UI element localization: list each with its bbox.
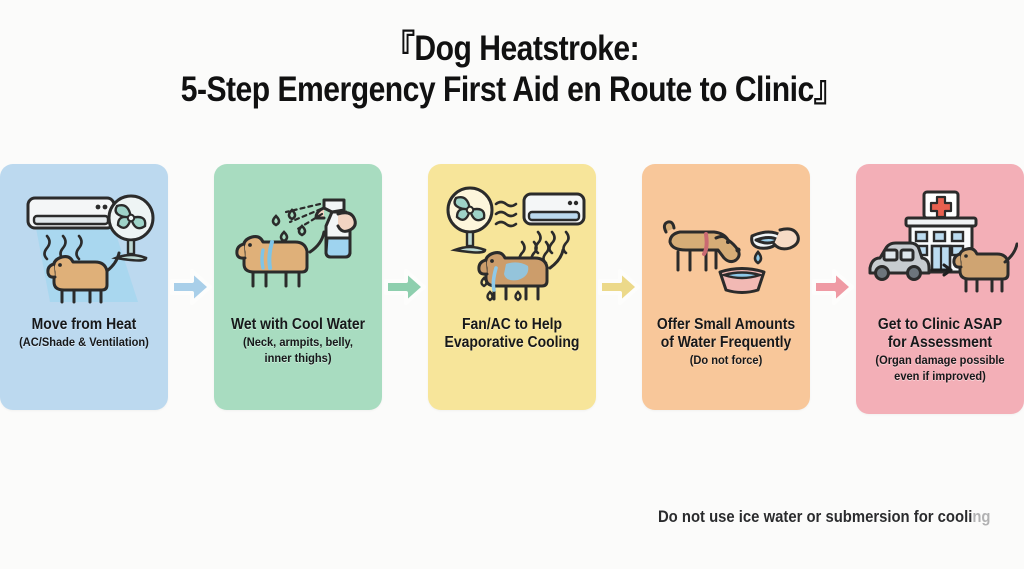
clinic-car-dog-icon [860,178,1020,316]
fan-ac-wet-dog-icon [432,178,592,316]
arrow-step-2-to-3 [382,164,428,410]
step-card-4[interactable]: Offer Small Amounts of Water Frequently … [642,164,810,410]
step-card-2-text: Wet with Cool Water (Neck, armpits, bell… [214,316,382,366]
steps-row: Move from Heat (AC/Shade & Ventilation) [0,164,1024,416]
step-2-title: Wet with Cool Water [225,316,371,334]
step-5-sub2: (Organ damage possible [867,353,1013,368]
dog-water-bowl-icon [646,178,806,316]
arrow-step-4-to-5 [810,164,856,410]
step-3-title: Fan/AC to Help [439,316,585,334]
step-5-sub3: even if improved) [867,369,1013,384]
arrow-step-3-to-4 [596,164,642,410]
step-card-5-text: Get to Clinic ASAP for Assessment (Organ… [856,316,1024,384]
arrow-step-1-to-2 [168,164,214,410]
step-4-sub1: of Water Frequently [653,334,799,352]
step-card-5[interactable]: Get to Clinic ASAP for Assessment (Organ… [856,164,1024,414]
step-2-sub1: (Neck, armpits, belly, [225,335,371,350]
step-card-3[interactable]: Fan/AC to Help Evaporative Cooling [428,164,596,410]
step-card-3-text: Fan/AC to Help Evaporative Cooling [428,316,596,352]
step-1-title: Move from Heat [11,316,157,334]
step-4-title: Offer Small Amounts [653,316,799,334]
page-title: 『Dog Heatstroke: 5-Step Emergency First … [0,28,1024,110]
step-card-4-text: Offer Small Amounts of Water Frequently … [642,316,810,368]
spray-bottle-dog-icon [218,178,378,316]
step-1-sub1: (AC/Shade & Ventilation) [11,335,157,350]
footer-note: Do not use ice water or submersion for c… [657,508,990,527]
step-card-1-text: Move from Heat (AC/Shade & Ventilation) [0,316,168,350]
step-4-sub2: (Do not force) [653,353,799,368]
step-5-sub1: for Assessment [867,334,1013,352]
step-2-sub2: inner thighs) [225,351,371,366]
step-card-2[interactable]: Wet with Cool Water (Neck, armpits, bell… [214,164,382,410]
title-line-2: 5-Step Emergency First Aid en Route to C… [72,69,953,110]
footer-note-tail: ng [972,508,990,526]
title-line-1: 『Dog Heatstroke: [72,28,953,69]
step-card-1[interactable]: Move from Heat (AC/Shade & Ventilation) [0,164,168,410]
step-3-sub1: Evaporative Cooling [439,334,585,352]
step-5-title: Get to Clinic ASAP [867,316,1013,334]
footer-note-main: Do not use ice water or submersion for c… [657,508,971,526]
ac-fan-dog-icon [4,178,164,316]
